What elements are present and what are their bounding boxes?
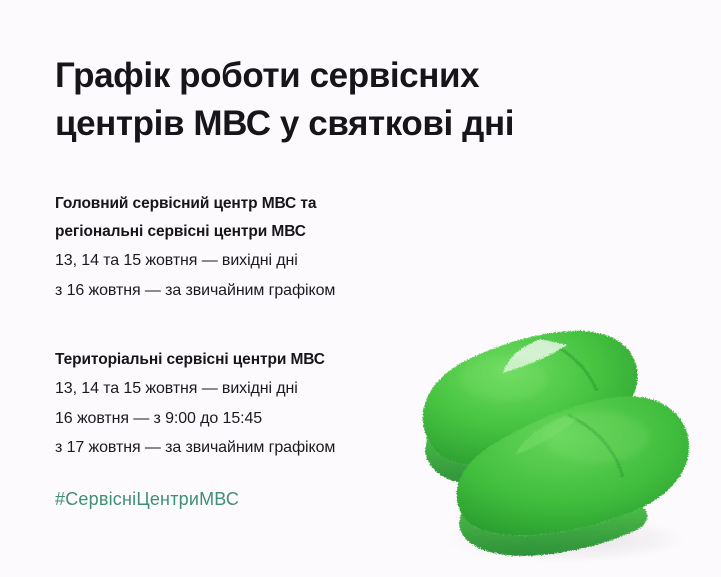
section-heading-line-1: Територіальні сервісні центри МВС — [55, 346, 455, 374]
schedule-line: 16 жовтня — з 9:00 до 15:45 — [55, 404, 655, 434]
hashtag: #СервісніЦентриМВС — [55, 487, 239, 511]
section-heading-line-2: регіональні сервісні центри МВС — [55, 218, 455, 246]
poster-canvas: Графік роботи сервісних центрів МВС у св… — [0, 0, 721, 577]
schedule-section-main-and-regional: Головний сервісний центр МВС та регіонал… — [55, 190, 655, 305]
schedule-line: з 17 жовтня — за звичайним графіком — [55, 433, 655, 463]
section-heading-line-1: Головний сервісний центр МВС та — [55, 190, 455, 218]
schedule-sections: Головний сервісний центр МВС та регіонал… — [55, 190, 655, 463]
schedule-section-territorial: Територіальні сервісні центри МВС 13, 14… — [55, 346, 655, 463]
page-title: Графік роботи сервісних центрів МВС у св… — [55, 52, 615, 148]
schedule-line: 13, 14 та 15 жовтня — вихідні дні — [55, 374, 655, 404]
schedule-line: 13, 14 та 15 жовтня — вихідні дні — [55, 246, 655, 276]
schedule-line: з 16 жовтня — за звичайним графіком — [55, 276, 655, 306]
poster-content: Графік роботи сервісних центрів МВС у св… — [55, 52, 655, 463]
